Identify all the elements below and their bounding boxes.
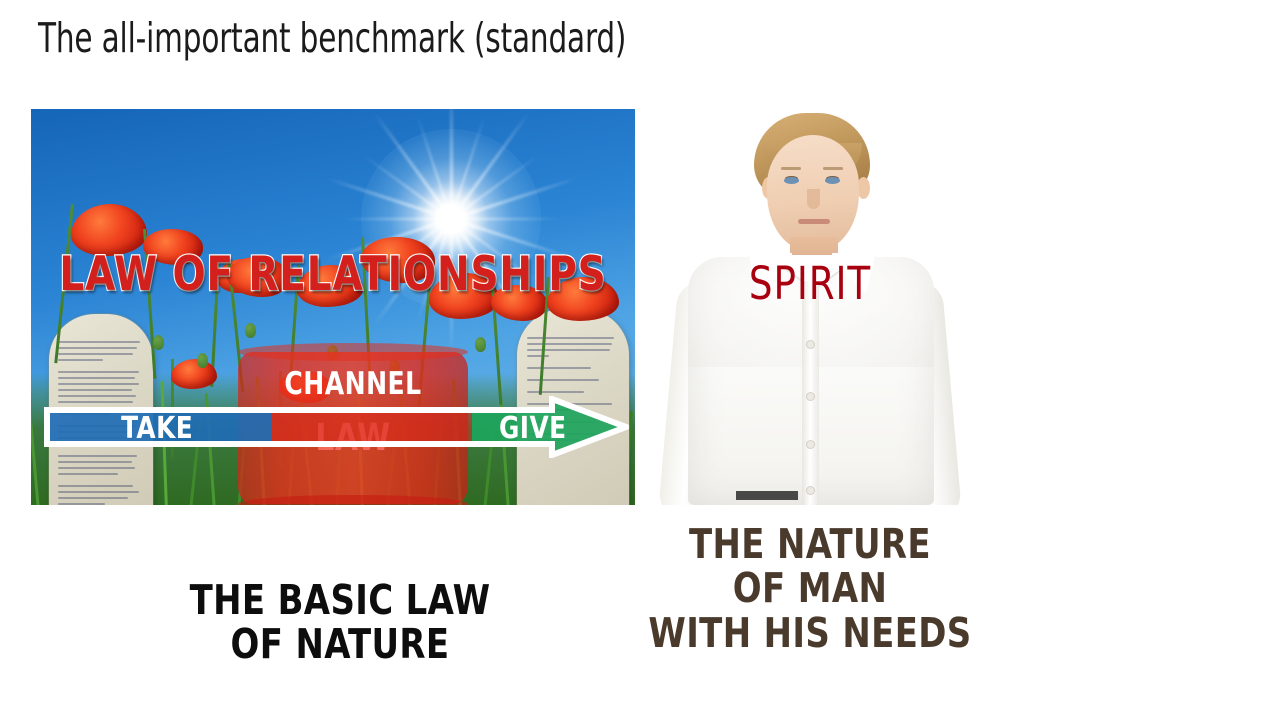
law-of-nature-image: LAW OF RELATIONSHIPS CHANNEL LAW [31,109,635,505]
right-figure[interactable]: SPIRIT [650,105,970,505]
caption-basic-law-of-nature: THE BASIC LAW OF NATURE [64,578,616,667]
shirt-button [807,341,814,348]
man-in-white-shirt-image: SPIRIT [650,105,970,505]
eye-left [784,177,799,184]
shirt-button [807,393,814,400]
left-figure[interactable]: LAW OF RELATIONSHIPS CHANNEL LAW [31,109,635,505]
poppy-bud [245,323,256,338]
eye-right [825,177,840,184]
belt [736,491,798,500]
poppy-bud [197,353,208,368]
eyebrow-left [781,167,801,170]
poppy-bud [475,337,486,352]
shirt-button [807,441,814,448]
law-of-relationships-headline: LAW OF RELATIONSHIPS [55,247,611,302]
take-give-arrow: TAKE GIVE [44,396,629,458]
caption-nature-of-man: THE NATURE OF MAN WITH HIS NEEDS [635,522,985,655]
eyebrow-right [823,167,843,170]
give-label: GIVE [499,411,567,446]
page-title: The all-important benchmark (standard) [38,14,626,62]
mouth [798,219,830,224]
spirit-label: SPIRIT [663,257,957,310]
shirt-button [807,487,814,494]
poppy-bud [153,335,164,350]
nose [807,189,820,209]
take-label: TAKE [121,411,193,446]
